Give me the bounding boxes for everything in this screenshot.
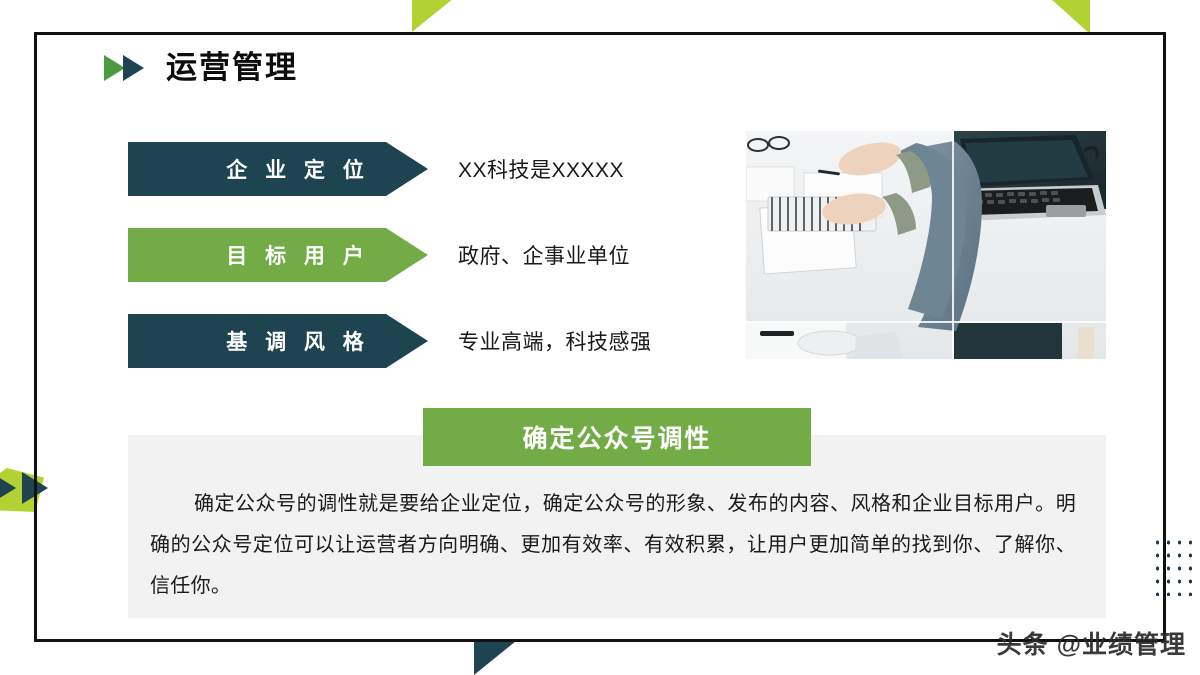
banner-value-tone-style: 专业高端，科技感强 (458, 314, 652, 368)
attribute-banner-list: 企 业 定 位 XX科技是XXXXX 目 标 用 户 政府、企事业单位 基 调 … (128, 142, 768, 400)
triangle-top-left-lime-icon (412, 0, 454, 32)
attribute-row-target-user: 目 标 用 户 政府、企事业单位 (128, 228, 768, 314)
title-marker-green-triangle-icon (104, 55, 125, 81)
banner-value-target-user: 政府、企事业单位 (458, 228, 630, 282)
attribute-row-enterprise-positioning: 企 业 定 位 XX科技是XXXXX (128, 142, 768, 228)
callout-paragraph: 确定公众号的调性就是要给企业定位，确定公众号的形象、发布的内容、风格和企业目标用… (150, 484, 1076, 607)
banner-label-enterprise-positioning[interactable]: 企 业 定 位 (128, 142, 428, 196)
attribute-row-tone-style: 基 调 风 格 专业高端，科技感强 (128, 314, 768, 400)
slide-canvas: 运营管理 企 业 定 位 XX科技是XXXXX 目 标 用 户 政府、企事业单位… (0, 0, 1200, 675)
triangle-left-first-icon (0, 472, 16, 504)
page-title: 运营管理 (166, 52, 298, 83)
triangle-bottom-center-icon (474, 641, 516, 675)
title-marker-dark-triangle-icon (123, 55, 144, 81)
banner-value-enterprise-positioning: XX科技是XXXXX (458, 142, 624, 196)
office-desk-photo (746, 131, 1106, 359)
page-title-row: 运营管理 (104, 52, 298, 83)
callout-heading: 确定公众号调性 (423, 408, 811, 466)
triangle-top-right-lime-icon (1050, 0, 1090, 34)
watermark-label: 头条 @业绩管理 (997, 625, 1186, 661)
banner-label-tone-style[interactable]: 基 调 风 格 (128, 314, 428, 368)
banner-label-target-user[interactable]: 目 标 用 户 (128, 228, 428, 282)
office-desk-illustration-icon (746, 131, 1106, 359)
